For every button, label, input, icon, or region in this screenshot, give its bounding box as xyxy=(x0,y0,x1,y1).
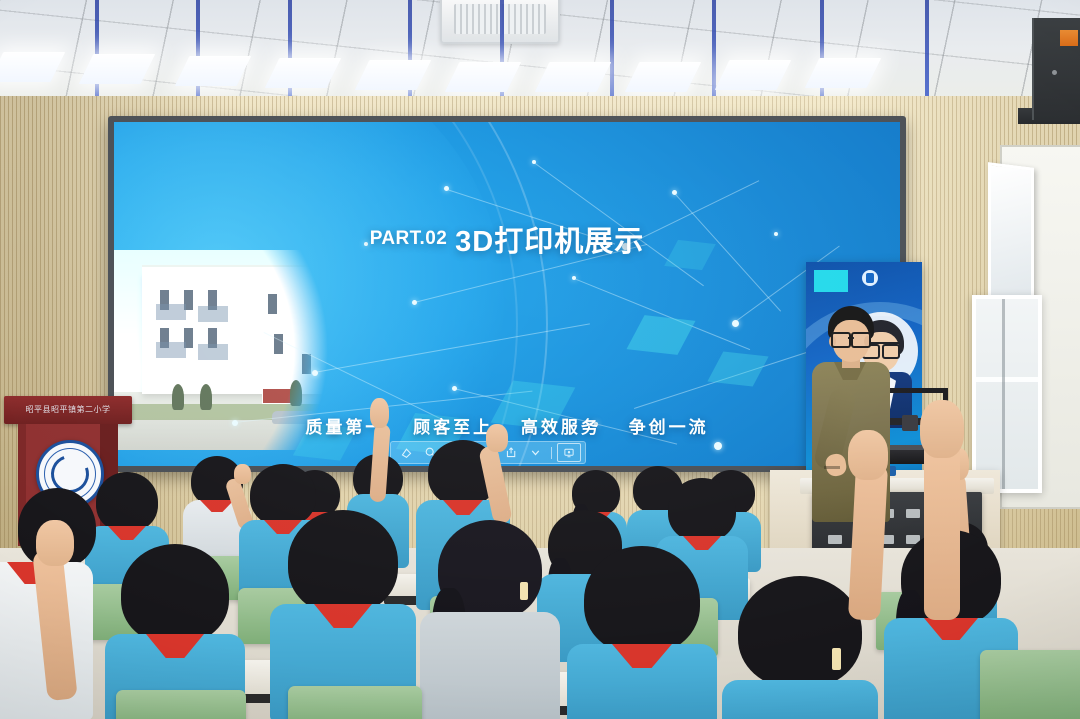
ceiling-accent-strip xyxy=(610,0,614,110)
projection-screen-bezel: PART.023D打印机展示 质量第一 顾客至上 高效服务 争创一流 xyxy=(108,116,906,472)
display-icon[interactable] xyxy=(557,443,581,462)
student xyxy=(436,520,544,719)
window-open-sash[interactable] xyxy=(988,162,1034,314)
student-hand-raised xyxy=(848,430,892,620)
slogan-item-2: 顾客至上 xyxy=(413,418,493,437)
toolbar-separator xyxy=(551,447,552,459)
speaker-label xyxy=(1060,30,1078,46)
student-hand-raised xyxy=(36,520,78,700)
slide-title: PART.023D打印机展示 xyxy=(114,218,900,260)
company-logo-icon xyxy=(862,270,878,286)
presentation-slide[interactable]: PART.023D打印机展示 质量第一 顾客至上 高效服务 争创一流 xyxy=(114,122,900,466)
wall-speaker xyxy=(1032,18,1080,120)
student-hand-raised xyxy=(918,400,970,620)
slogan-item-3: 高效服务 xyxy=(521,418,601,437)
student-chair xyxy=(980,650,1080,719)
speaker-led xyxy=(1052,70,1057,75)
chevron-down-icon[interactable] xyxy=(524,444,546,461)
student-chair xyxy=(288,686,422,719)
podium-sign-text: 昭平县昭平镇第二小学 xyxy=(10,401,126,418)
slogan-item-4: 争创一流 xyxy=(629,418,709,437)
ceiling-accent-strip xyxy=(820,0,824,110)
student xyxy=(584,546,700,719)
ceiling-accent-strip xyxy=(408,0,412,110)
ceiling xyxy=(0,0,1080,110)
ceiling-accent-strip xyxy=(196,0,200,110)
classroom-presentation-scene: PART.023D打印机展示 质量第一 顾客至上 高效服务 争创一流 xyxy=(0,0,1080,719)
student xyxy=(740,576,860,719)
ceiling-accent-strip xyxy=(925,0,929,110)
slide-title-part: PART.02 xyxy=(370,228,447,249)
slide-title-main: 3D打印机展示 xyxy=(455,226,644,258)
banner-accent-block xyxy=(814,270,848,292)
glasses-icon xyxy=(831,332,871,344)
ceiling-accent-strip xyxy=(500,0,504,110)
podium-top-plate: 昭平县昭平镇第二小学 xyxy=(4,396,132,424)
student-chair xyxy=(116,690,246,719)
ceiling-accent-strip xyxy=(712,0,716,110)
ceiling-accent-strip xyxy=(288,0,292,110)
